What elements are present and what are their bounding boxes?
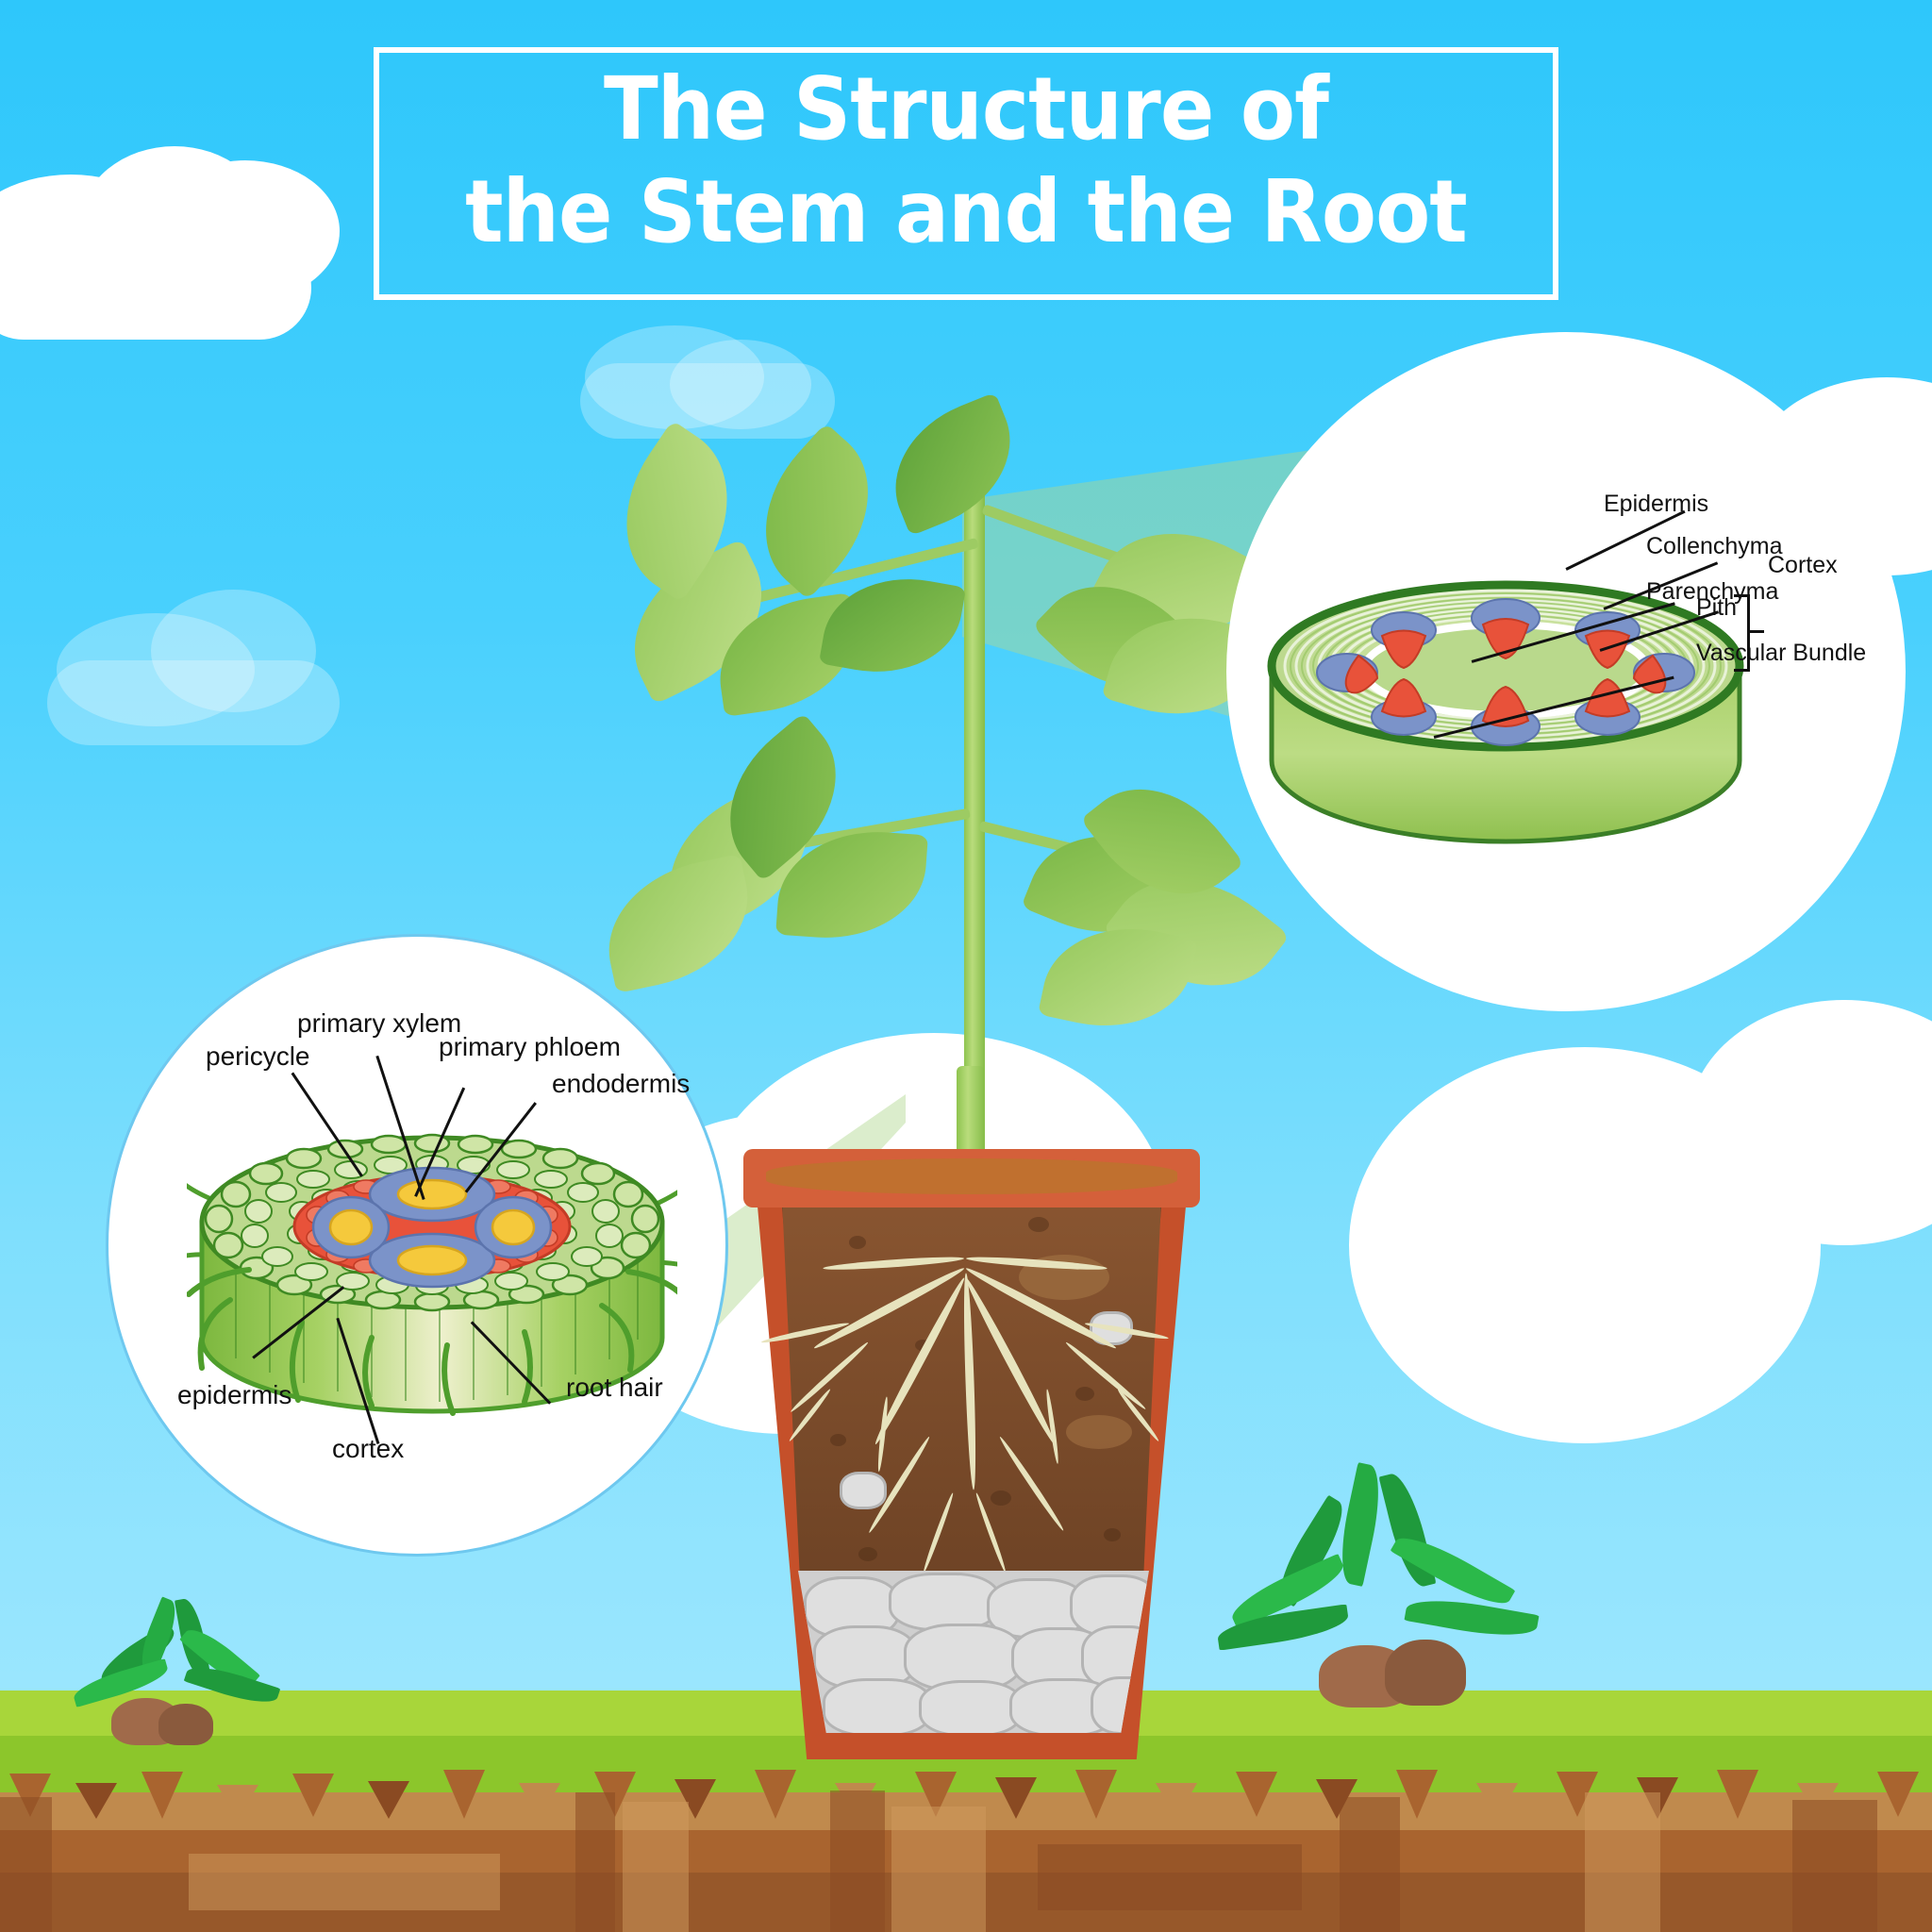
- page-title: The Structure of the Stem and the Root: [421, 58, 1511, 263]
- root-label-endodermis: endodermis: [552, 1069, 690, 1099]
- pot-gravel-layer: [798, 1571, 1149, 1733]
- stem-label-vascular-bundle: Vascular Bundle: [1696, 640, 1866, 667]
- stem-label-cortex: Cortex: [1768, 552, 1838, 579]
- root-label-pericycle: pericycle: [206, 1041, 309, 1072]
- root-label-primary-phloem: primary phloem: [439, 1032, 621, 1062]
- cortex-bracket-bottom: [1734, 669, 1749, 672]
- title-line-1: The Structure of: [421, 58, 1511, 161]
- stem-label-collenchyma: Collenchyma: [1646, 533, 1783, 560]
- title-line-2: the Stem and the Root: [421, 161, 1511, 264]
- illustration-canvas: The Structure of the Stem and the Root: [0, 0, 1932, 1932]
- stem-label-pith: Pith: [1696, 594, 1737, 622]
- pot-rim-inner-shadow: [766, 1158, 1177, 1194]
- cortex-bracket-stub: [1747, 630, 1764, 633]
- root-label-epidermis: epidermis: [177, 1380, 291, 1410]
- cloud-big-center-right: [1349, 1047, 1821, 1443]
- root-label-cortex: cortex: [332, 1434, 404, 1464]
- root-label-primary-xylem: primary xylem: [297, 1008, 461, 1039]
- root-label-root-hair: root hair: [566, 1373, 663, 1403]
- stem-label-epidermis: Epidermis: [1604, 491, 1708, 518]
